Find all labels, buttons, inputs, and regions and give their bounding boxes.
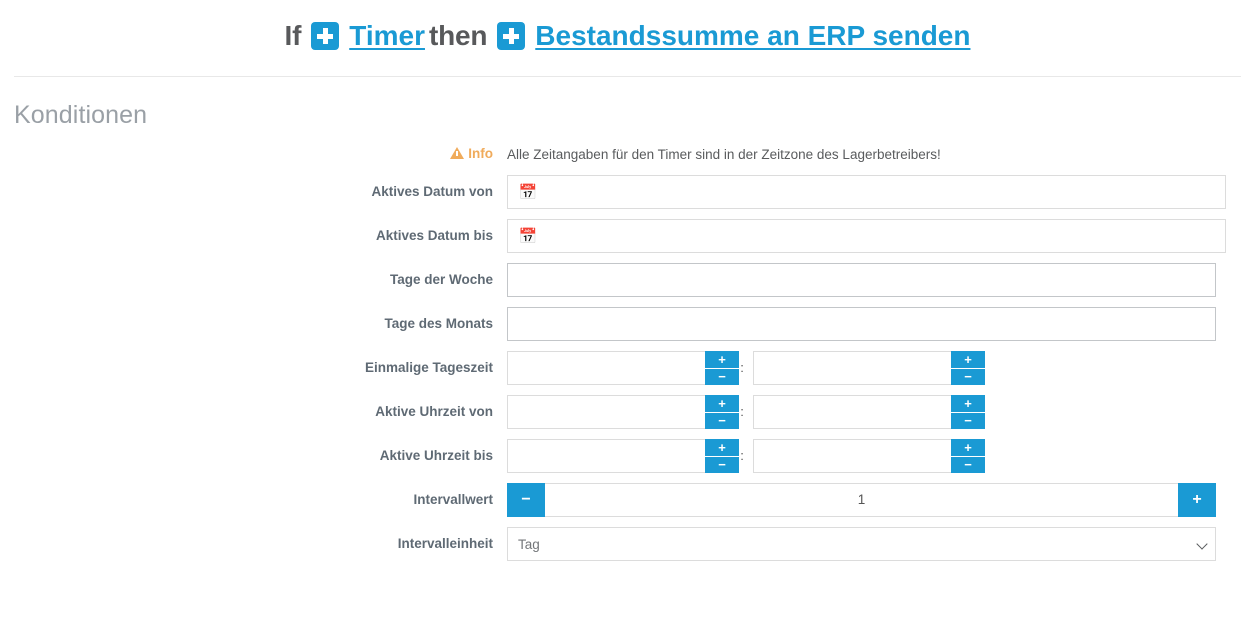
control-time-to: + − : + − [507, 439, 1255, 473]
conditions-form: Info Alle Zeitangaben für den Timer sind… [0, 144, 1255, 561]
once-time-minute-decrement[interactable]: − [951, 369, 985, 386]
input-group-date-to: 📅 [507, 219, 1226, 253]
control-time-from: + − : + − [507, 395, 1255, 429]
time-wrap-once: + − : + − [507, 351, 1255, 385]
control-monthdays [507, 307, 1255, 341]
row-date-from: Aktives Datum von 📅 [0, 175, 1255, 209]
interval-unit-select-wrap: Tag [507, 527, 1216, 561]
calendar-icon[interactable]: 📅 [507, 219, 548, 253]
control-interval-value: − 1 + [507, 483, 1255, 517]
control-weekdays [507, 263, 1255, 297]
label-monthdays: Tage des Monats [0, 307, 507, 341]
time-to-minute-group: + − [753, 439, 977, 473]
row-monthdays: Tage des Monats [0, 307, 1255, 341]
date-to-input[interactable] [548, 219, 1226, 253]
time-to-separator: : [731, 439, 753, 473]
rule-title: If Timer then Bestandssumme an ERP sende… [285, 22, 971, 50]
rule-then-word: then [429, 22, 487, 50]
label-time-from: Aktive Uhrzeit von [0, 395, 507, 429]
time-from-minute-spinner[interactable]: + − [951, 395, 985, 429]
interval-unit-select[interactable]: Tag [507, 527, 1216, 561]
calendar-icon[interactable]: 📅 [507, 175, 548, 209]
label-date-from: Aktives Datum von [0, 175, 507, 209]
time-to-minute-input[interactable] [753, 439, 951, 473]
plus-icon-trigger[interactable] [311, 22, 339, 50]
info-row: Info Alle Zeitangaben für den Timer sind… [0, 144, 1255, 165]
trigger-link-timer[interactable]: Timer [349, 22, 425, 50]
once-time-separator: : [731, 351, 753, 385]
input-group-date-from: 📅 [507, 175, 1226, 209]
monthdays-input[interactable] [507, 307, 1216, 341]
interval-decrement-button[interactable]: − [507, 483, 545, 517]
time-from-minute-decrement[interactable]: − [951, 413, 985, 430]
interval-value-stepper: − 1 + [507, 483, 1216, 517]
row-time-from: Aktive Uhrzeit von + − : + − [0, 395, 1255, 429]
interval-value-display[interactable]: 1 [545, 483, 1178, 517]
control-interval-unit: Tag [507, 527, 1255, 561]
time-to-minute-increment[interactable]: + [951, 439, 985, 457]
label-time-to: Aktive Uhrzeit bis [0, 439, 507, 473]
control-date-to: 📅 [507, 219, 1255, 253]
once-time-minute-group: + − [753, 351, 977, 385]
info-label-wrap: Info [0, 144, 507, 164]
time-wrap-to: + − : + − [507, 439, 1255, 473]
date-from-input[interactable] [548, 175, 1226, 209]
control-once-time: + − : + − [507, 351, 1255, 385]
row-once-time: Einmalige Tageszeit + − : + − [0, 351, 1255, 385]
time-to-hour-input[interactable] [507, 439, 705, 473]
time-wrap-from: + − : + − [507, 395, 1255, 429]
row-weekdays: Tage der Woche [0, 263, 1255, 297]
time-from-hour-input[interactable] [507, 395, 705, 429]
info-message: Alle Zeitangaben für den Timer sind in d… [507, 144, 1255, 165]
weekdays-input[interactable] [507, 263, 1216, 297]
interval-increment-button[interactable]: + [1178, 483, 1216, 517]
label-interval-unit: Intervalleinheit [0, 527, 507, 561]
row-interval-unit: Intervalleinheit Tag [0, 527, 1255, 561]
warning-triangle-icon [450, 147, 464, 159]
label-date-to: Aktives Datum bis [0, 219, 507, 253]
label-once-time: Einmalige Tageszeit [0, 351, 507, 385]
row-time-to: Aktive Uhrzeit bis + − : + − [0, 439, 1255, 473]
label-weekdays: Tage der Woche [0, 263, 507, 297]
time-from-separator: : [731, 395, 753, 429]
once-time-hour-group: + − [507, 351, 731, 385]
page-title: Konditionen [14, 101, 1255, 130]
time-to-minute-decrement[interactable]: − [951, 457, 985, 474]
info-label: Info [468, 144, 493, 164]
header-divider [14, 76, 1241, 77]
once-time-minute-increment[interactable]: + [951, 351, 985, 369]
rule-if-word: If [285, 22, 302, 50]
info-text-col: Alle Zeitangaben für den Timer sind in d… [507, 144, 1255, 165]
plus-icon-action[interactable] [497, 22, 525, 50]
time-from-minute-input[interactable] [753, 395, 951, 429]
once-time-minute-input[interactable] [753, 351, 951, 385]
row-date-to: Aktives Datum bis 📅 [0, 219, 1255, 253]
once-time-hour-input[interactable] [507, 351, 705, 385]
time-from-minute-group: + − [753, 395, 977, 429]
action-link-bestandssumme[interactable]: Bestandssumme an ERP senden [535, 22, 970, 50]
row-interval-value: Intervallwert − 1 + [0, 483, 1255, 517]
time-to-minute-spinner[interactable]: + − [951, 439, 985, 473]
time-from-minute-increment[interactable]: + [951, 395, 985, 413]
once-time-minute-spinner[interactable]: + − [951, 351, 985, 385]
control-date-from: 📅 [507, 175, 1255, 209]
label-interval-value: Intervallwert [0, 483, 507, 517]
time-from-hour-group: + − [507, 395, 731, 429]
time-to-hour-group: + − [507, 439, 731, 473]
rule-header: If Timer then Bestandssumme an ERP sende… [0, 0, 1255, 50]
